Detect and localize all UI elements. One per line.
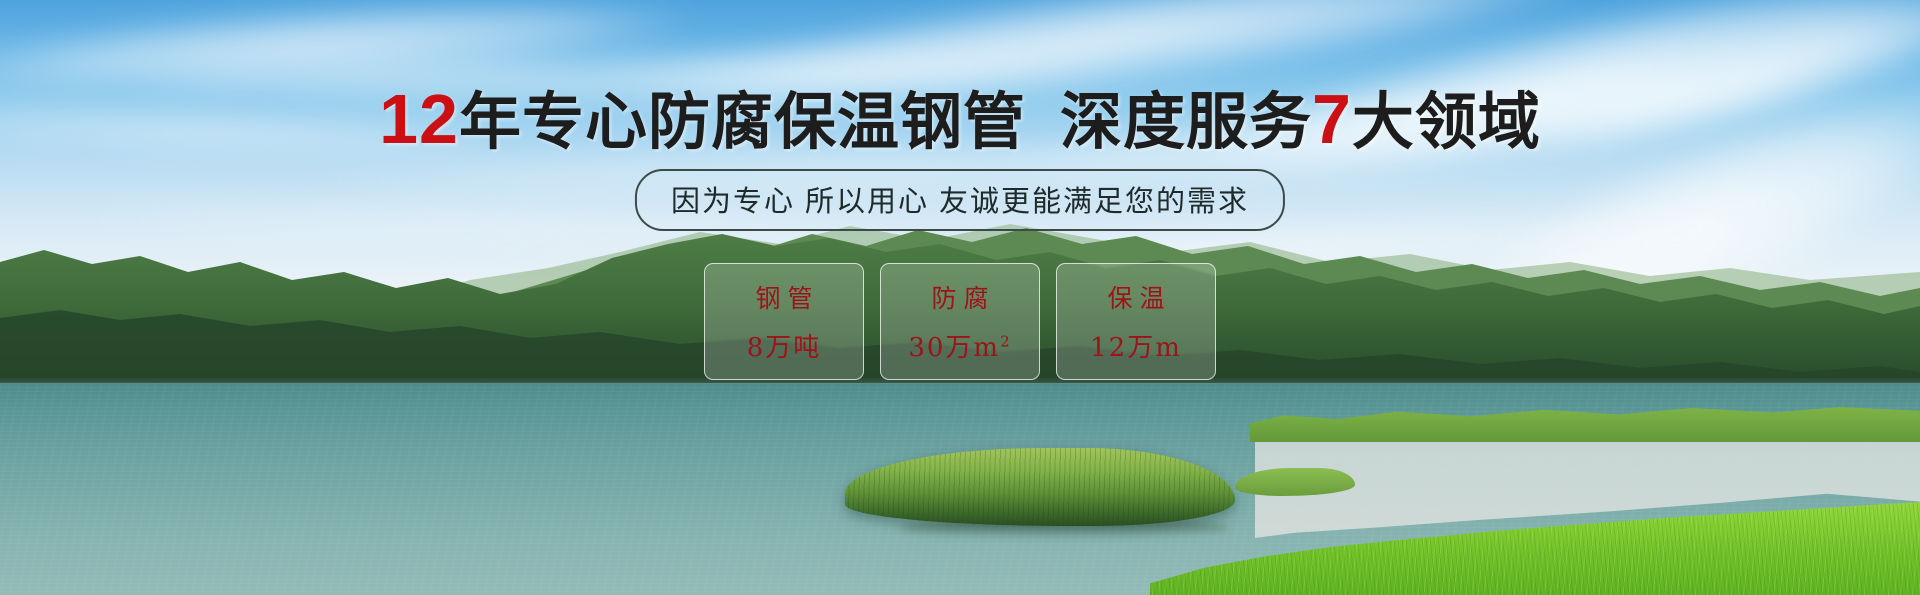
headline-fields-number: 7: [1312, 80, 1352, 158]
banner-headline: 12年专心防腐保温钢管深度服务7大领域: [0, 84, 1920, 154]
banner-subtitle-pill: 因为专心 所以用心 友诚更能满足您的需求: [635, 169, 1285, 231]
stat-card-value-sup: 2: [1000, 332, 1012, 350]
stat-card-label: 保温: [1100, 279, 1171, 315]
banner-subtitle-text: 因为专心 所以用心 友诚更能满足您的需求: [671, 186, 1249, 218]
banner-overlay: 12年专心防腐保温钢管深度服务7大领域 因为专心 所以用心 友诚更能满足您的需求…: [0, 0, 1920, 595]
stat-card-value-text: 8万吨: [747, 333, 822, 363]
stat-card-insulation[interactable]: 保温 12万m: [1056, 263, 1216, 380]
stat-card-value-text: 30万m: [908, 333, 1000, 363]
headline-years-number: 12: [379, 80, 459, 158]
stat-card-value: 30万m2: [908, 327, 1011, 364]
headline-fields-text: 大领域: [1352, 88, 1541, 157]
stat-card-value: 8万吨: [747, 327, 822, 364]
headline-years-text: 年专心防腐保温钢管: [459, 88, 1026, 157]
stat-card-list: 钢管 8万吨 防腐 30万m2 保温 12万m: [704, 263, 1216, 380]
stat-card-value: 12万m: [1090, 327, 1182, 364]
stat-card-value-text: 12万m: [1090, 333, 1182, 363]
headline-service-text: 深度服务: [1060, 88, 1312, 157]
promo-banner: 12年专心防腐保温钢管深度服务7大领域 因为专心 所以用心 友诚更能满足您的需求…: [0, 0, 1920, 595]
stat-card-label: 防腐: [924, 279, 995, 315]
stat-card-steel-pipe[interactable]: 钢管 8万吨: [704, 263, 864, 380]
stat-card-label: 钢管: [748, 279, 819, 315]
stat-card-anticorrosion[interactable]: 防腐 30万m2: [880, 263, 1040, 380]
